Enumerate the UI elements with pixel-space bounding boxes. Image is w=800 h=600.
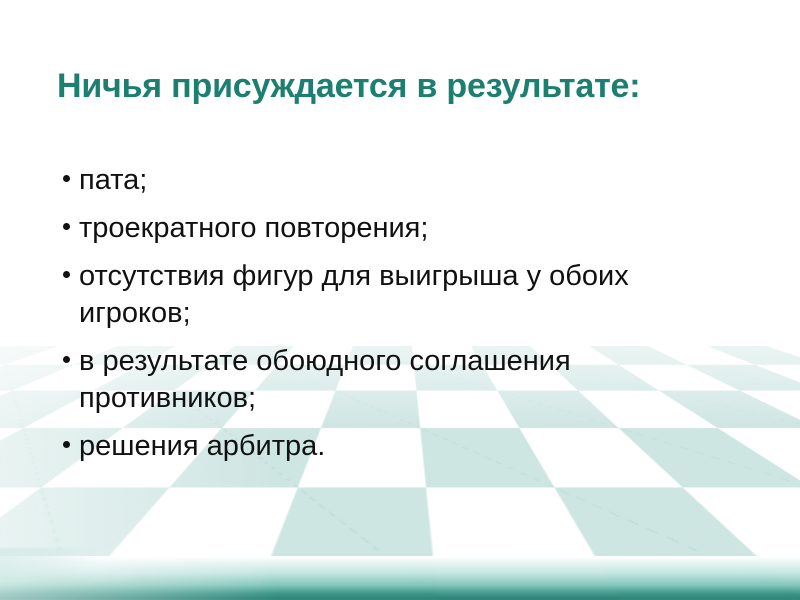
list-item: в результате обоюдного соглашения против… xyxy=(62,343,712,417)
list-item-label: в результате обоюдного соглашения против… xyxy=(79,343,712,417)
bullet-dot-icon xyxy=(63,441,70,448)
page-title: Ничья присуждается в результате: xyxy=(57,66,757,106)
bullet-dot-icon xyxy=(63,223,70,230)
list-item: отсутствия фигур для выигрыша у обоих иг… xyxy=(62,258,712,332)
bullet-dot-icon xyxy=(63,356,70,363)
list-item-label: отсутствия фигур для выигрыша у обоих иг… xyxy=(79,258,712,332)
list-item-label: троекратного повторения; xyxy=(79,210,712,247)
bullet-dot-icon xyxy=(63,175,70,182)
list-item: троекратного повторения; xyxy=(62,210,712,247)
bullet-list: пата; троекратного повторения; отсутстви… xyxy=(62,162,712,476)
list-item: пата; xyxy=(62,162,712,199)
slide: Ничья присуждается в результате: пата; т… xyxy=(0,0,800,600)
list-item-label: пата; xyxy=(79,162,712,199)
list-item: решения арбитра. xyxy=(62,428,712,465)
bullet-dot-icon xyxy=(63,271,70,278)
slide-content: Ничья присуждается в результате: пата; т… xyxy=(0,0,800,600)
list-item-label: решения арбитра. xyxy=(79,428,712,465)
